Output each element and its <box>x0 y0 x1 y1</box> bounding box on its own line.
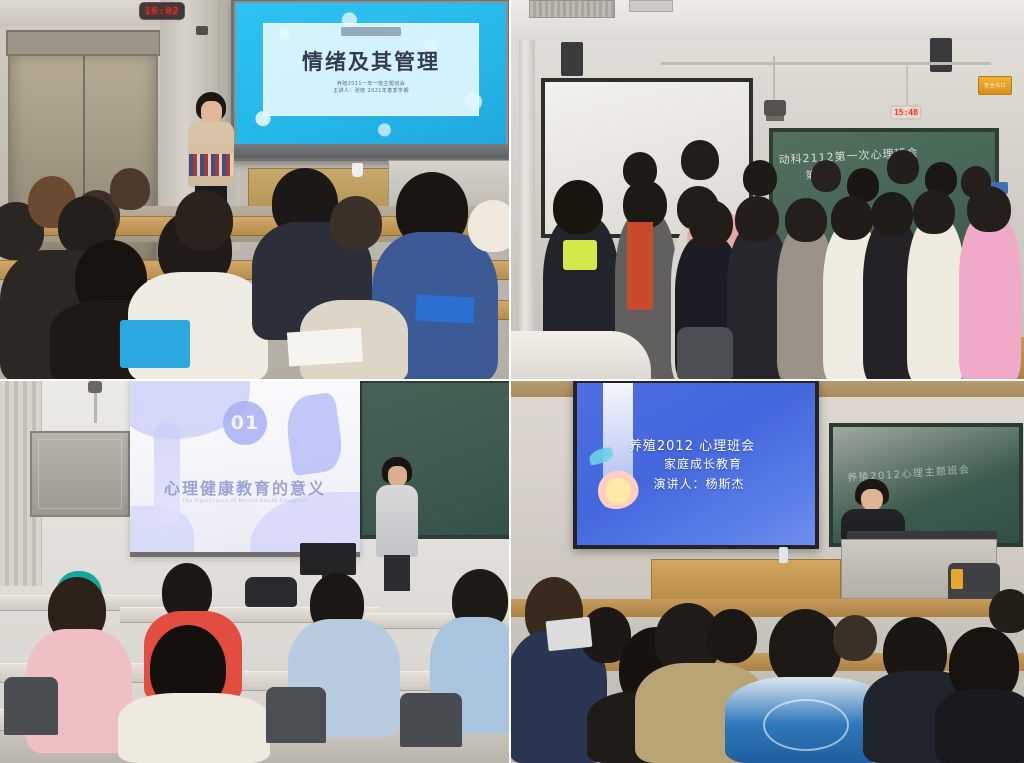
wall-pipe <box>519 40 535 340</box>
projector-wire <box>773 56 775 102</box>
presenter-face <box>388 466 407 487</box>
slide-line-3: 演讲人：杨斯杰 <box>577 475 807 492</box>
slide-title: 情绪及其管理 <box>264 46 478 76</box>
exit-sign-label: 安全出口 <box>984 82 1006 89</box>
led-clock-display: 16:02 <box>144 6 179 17</box>
person-head <box>623 180 667 228</box>
presenter-face <box>861 489 883 511</box>
slide-line-2: 家庭成长教育 <box>577 455 807 472</box>
sweater-pattern <box>189 154 233 176</box>
ceiling-vent <box>529 0 615 18</box>
slide-illustration-right <box>283 392 345 476</box>
ceiling-rail <box>661 62 991 65</box>
speaker-right-icon <box>930 38 952 72</box>
jacket-logo-ring <box>763 699 849 751</box>
student-head <box>175 190 233 250</box>
person-head <box>871 192 913 236</box>
door-header <box>6 30 161 56</box>
slide-section-badge: 01 <box>223 401 267 445</box>
paper-notes <box>287 327 363 366</box>
camera-pole <box>94 393 97 423</box>
led-clock: 16:02 <box>139 2 185 20</box>
round-table <box>511 331 651 379</box>
photo-panel-top-left: 16:02 主题班会 情绪及其管理 养殖2011一年一班主题班会 主讲人：张晓 … <box>0 0 511 381</box>
slide-subtitle: The Significance of Mental Health Educat… <box>130 499 360 504</box>
student-body <box>935 689 1024 763</box>
desk-monitor <box>300 543 356 575</box>
water-bottle <box>779 547 788 563</box>
person-body <box>907 218 965 381</box>
photo-panel-bottom-left: 01 心理健康教育的意义 The Significance of Mental … <box>0 381 511 763</box>
backpack <box>245 577 297 607</box>
person-head <box>735 196 779 242</box>
presenter-legs <box>384 555 410 591</box>
person-head <box>887 150 919 184</box>
presenter-figure <box>374 457 420 591</box>
slide-badge-number: 01 <box>231 412 259 434</box>
chair <box>400 693 462 747</box>
person-head <box>681 140 719 180</box>
student-head-cap <box>468 200 511 252</box>
person-head <box>785 198 827 242</box>
chair <box>4 677 58 735</box>
chair <box>677 327 733 379</box>
person-head <box>967 186 1011 232</box>
blue-folder <box>120 320 190 368</box>
juice-bottle <box>951 569 963 589</box>
student-head <box>110 168 150 210</box>
exit-sign: 安全出口 <box>978 76 1012 95</box>
led-clock-display: 15:48 <box>894 108 918 117</box>
person-head <box>913 190 955 234</box>
projection-screen: 情绪及其管理 养殖2011一年一班主题班会 主讲人：张晓 2021年春季学期 <box>231 0 511 161</box>
speaker-left-icon <box>561 42 583 76</box>
projection-screen: 01 心理健康教育的意义 The Significance of Mental … <box>130 381 360 557</box>
blue-notebook <box>415 295 474 324</box>
projector-icon <box>764 100 786 116</box>
person-head <box>743 160 777 196</box>
screen-bottom-bar <box>234 144 508 158</box>
student-head <box>769 609 841 687</box>
person-head <box>689 200 733 246</box>
photo-panel-top-right: 15:48 安全出口 动科2112第一次心理班会 第二班 <box>511 0 1024 381</box>
person-head <box>553 180 603 234</box>
presenter-hoodie <box>376 485 418 557</box>
laptop <box>546 617 593 651</box>
slide-ribbon-decoration <box>341 27 401 36</box>
photo-panel-bottom-right: 养殖2012 心理班会 家庭成长教育 演讲人：杨斯杰 养殖2012心理主题班会 <box>511 381 1024 763</box>
orange-shirt <box>627 222 653 310</box>
photo-collage: 16:02 主题班会 情绪及其管理 养殖2011一年一班主题班会 主讲人：张晓 … <box>0 0 1024 763</box>
slide-line-1: 养殖2012 心理班会 <box>577 435 807 454</box>
person-body-pink <box>959 214 1021 381</box>
paper-cup <box>352 163 363 177</box>
projection-screen: 养殖2012 心理班会 家庭成长教育 演讲人：杨斯杰 <box>573 381 819 549</box>
chair <box>266 687 326 743</box>
student-head <box>330 196 382 250</box>
student-head <box>989 589 1024 633</box>
slide-illustration-left <box>154 423 180 523</box>
student-head <box>707 609 757 663</box>
wall-sensor-icon <box>196 26 208 35</box>
clock-wire <box>906 66 908 106</box>
ceiling-duct <box>629 0 673 12</box>
student-body <box>118 693 270 763</box>
wall-cabinet <box>30 431 130 517</box>
front-desk <box>651 559 841 603</box>
led-clock: 15:48 <box>890 105 922 120</box>
chalkboard-text: 动科2112第一次心理班会 第二班 <box>778 141 990 188</box>
camera-icon <box>88 381 102 393</box>
student-head <box>833 615 877 661</box>
slide-content-panel: 情绪及其管理 养殖2011一年一班主题班会 主讲人：张晓 2021年春季学期 <box>263 23 479 116</box>
slide-title: 心理健康教育的意义 <box>130 475 360 499</box>
person-head <box>831 196 873 240</box>
slide-subtitle-line2: 主讲人：张晓 2021年春季学期 <box>264 87 478 97</box>
person-head <box>811 160 841 192</box>
tshirt-graphic <box>563 240 597 270</box>
slide-emotions: 情绪及其管理 养殖2011一年一班主题班会 主讲人：张晓 2021年春季学期 <box>236 3 506 144</box>
